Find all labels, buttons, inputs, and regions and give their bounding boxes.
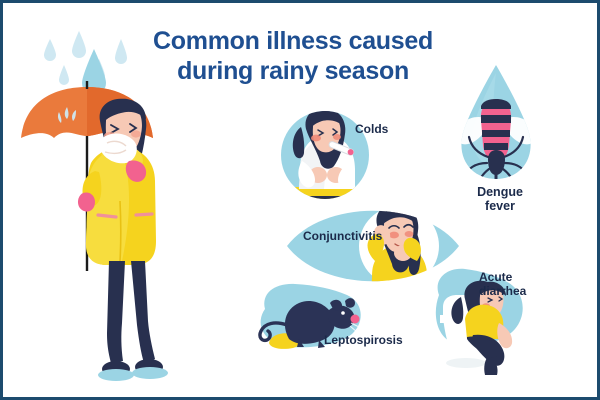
illness-label-conjunctivitis: Conjunctivitis — [303, 230, 382, 244]
page-title: Common illness caused during rainy seaso… — [123, 27, 463, 86]
illness-label-dengue-fever: Dengue fever — [469, 185, 531, 214]
infographic-poster: Common illness caused during rainy seaso… — [0, 0, 600, 400]
dengue-illustration — [457, 65, 535, 193]
woman-with-umbrella-illustration — [21, 81, 168, 381]
raindrops-group — [44, 31, 127, 95]
illness-label-acute-diarrhea: Acute diarrhea — [479, 271, 526, 299]
illness-label-colds: Colds — [355, 123, 388, 137]
conjunctivitis-illustration — [287, 204, 459, 295]
illness-label-leptospirosis: Leptospirosis — [324, 334, 403, 348]
